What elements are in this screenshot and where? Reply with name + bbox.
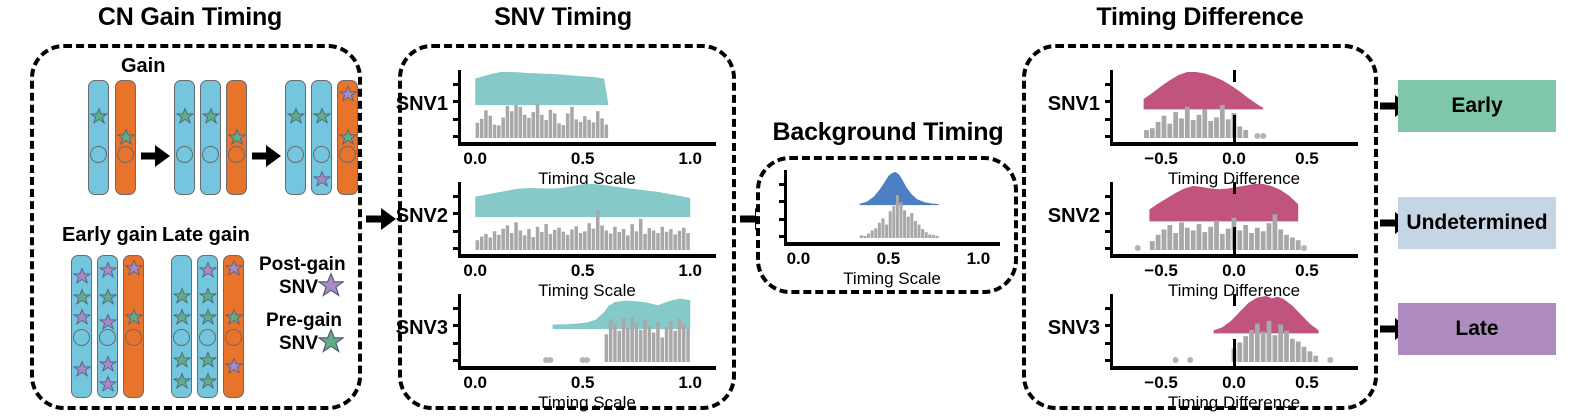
histogram-bar xyxy=(583,116,587,138)
histogram-bar xyxy=(484,110,488,138)
histogram-bar xyxy=(1197,224,1202,250)
snv-row-label: SNV3 xyxy=(1038,317,1100,340)
page-title-cn-gain: CN Gain Timing xyxy=(30,3,350,32)
histogram-bar xyxy=(536,227,540,250)
histogram-bar xyxy=(575,119,579,138)
histogram-bar xyxy=(1278,230,1283,251)
snv-row-label: SNV2 xyxy=(386,205,448,228)
histogram-bar xyxy=(622,229,626,250)
histogram-bar xyxy=(519,230,523,250)
gain-step-arrow-1 xyxy=(141,146,169,166)
histogram-bar xyxy=(635,231,639,250)
histogram-bar xyxy=(562,232,566,250)
x-tick-label: 1.0 xyxy=(678,261,702,281)
x-tick-label: 0.5 xyxy=(571,149,595,169)
x-tick-label: 0.0 xyxy=(1222,261,1246,281)
post-gain-snv-star xyxy=(73,308,91,326)
x-tick-label: 1.0 xyxy=(967,249,991,269)
histogram-bar xyxy=(1226,119,1231,138)
histogram-bar xyxy=(476,123,480,138)
pre-gain-snv-star xyxy=(173,287,191,305)
x-tick-label: 0.0 xyxy=(463,149,487,169)
histogram-bar xyxy=(514,222,518,250)
early-gain-label: Early gain xyxy=(62,224,158,247)
histogram-bar xyxy=(605,230,609,250)
centromere xyxy=(287,146,304,163)
histogram-bar xyxy=(1237,230,1242,250)
histogram-bar xyxy=(613,227,617,250)
x-axis xyxy=(1110,254,1358,258)
histogram-bar xyxy=(918,225,921,238)
histogram-bar xyxy=(1261,231,1266,250)
histogram-bar xyxy=(553,113,557,138)
post-gain-snv-star xyxy=(73,360,91,378)
histogram-bar xyxy=(514,105,518,138)
histogram-bar xyxy=(1214,221,1219,251)
histogram-bar xyxy=(1179,222,1184,250)
chromosome-blue xyxy=(88,80,109,195)
histogram-bar xyxy=(480,119,484,138)
histogram-bar xyxy=(570,230,574,251)
gain-step-arrow-2 xyxy=(252,146,280,166)
histogram-bar xyxy=(686,329,690,362)
histogram-bar xyxy=(1273,335,1278,362)
histogram-bar xyxy=(1185,107,1190,138)
post-gain-snv-star xyxy=(125,259,143,277)
post-gain-legend-line2: SNV xyxy=(279,277,318,299)
histogram-bar xyxy=(1173,233,1178,250)
histogram-bar xyxy=(1296,342,1301,363)
histogram-bar xyxy=(673,331,677,362)
outlier-dot xyxy=(1173,357,1179,363)
x-axis xyxy=(458,366,716,370)
histogram-bar xyxy=(532,237,536,250)
histogram-bar xyxy=(630,317,634,362)
plot-canvas xyxy=(458,294,716,366)
x-tick-label: 0.0 xyxy=(463,373,487,393)
histogram-bar xyxy=(510,111,514,138)
centromere xyxy=(199,329,216,346)
histogram-bar xyxy=(1284,331,1289,362)
density-curve xyxy=(1144,72,1264,109)
snv-row-label: SNV3 xyxy=(386,317,448,340)
histogram-bar xyxy=(1290,238,1295,251)
snv2-difference-plot: −0.50.00.5Timing DifferenceSNV2 xyxy=(1110,182,1358,254)
outlier-dot xyxy=(1135,245,1141,251)
chromosome-blue xyxy=(174,80,195,195)
plot-canvas xyxy=(784,170,1000,242)
density-curve xyxy=(1214,296,1319,333)
histogram-bar xyxy=(1173,112,1178,138)
histogram-bar xyxy=(882,218,885,238)
histogram-bar xyxy=(536,104,540,138)
x-tick-label: 0.5 xyxy=(1295,261,1319,281)
histogram-bar xyxy=(1220,234,1225,250)
post-gain-snv-legend-star xyxy=(318,272,344,298)
pre-gain-snv-star xyxy=(202,107,220,125)
histogram-bar xyxy=(643,320,647,362)
density-curve xyxy=(475,184,690,217)
histogram-bar xyxy=(864,236,867,238)
x-tick-label: 0.0 xyxy=(1222,373,1246,393)
histogram-bar xyxy=(609,319,613,362)
histogram-bar xyxy=(501,229,505,250)
histogram-bar xyxy=(1202,109,1207,138)
histogram-bar xyxy=(557,123,561,138)
pre-gain-snv-star xyxy=(173,351,191,369)
post-gain-snv-star xyxy=(99,375,117,393)
classification-box-late[interactable]: Late xyxy=(1398,303,1556,355)
histogram-bar xyxy=(630,224,634,250)
histogram-bar xyxy=(643,234,647,250)
histogram-bar xyxy=(1278,325,1283,363)
histogram-bar xyxy=(1249,330,1254,362)
plot-canvas xyxy=(458,70,716,142)
histogram-bar xyxy=(1302,347,1307,362)
x-tick-label: 0.0 xyxy=(1222,149,1246,169)
pre-gain-snv-star xyxy=(176,107,194,125)
x-axis xyxy=(458,254,716,258)
histogram-bar xyxy=(532,112,536,138)
x-axis xyxy=(458,142,716,146)
histogram-bar xyxy=(900,202,903,238)
histogram-bar xyxy=(1273,214,1278,250)
histogram-bar xyxy=(1214,118,1219,139)
snv-row-label: SNV1 xyxy=(386,93,448,116)
pre-gain-snv-star xyxy=(313,107,331,125)
x-tick-label: 0.0 xyxy=(787,249,811,269)
outlier-dot xyxy=(547,357,553,363)
classification-box-early[interactable]: Early xyxy=(1398,80,1556,132)
histogram-bar xyxy=(1243,130,1248,138)
histogram-bar xyxy=(910,213,913,238)
histogram-bar xyxy=(903,210,906,238)
centromere xyxy=(339,146,356,163)
x-tick-label: 0.5 xyxy=(877,249,901,269)
histogram-bar xyxy=(874,228,877,238)
histogram-bar xyxy=(613,324,617,362)
histogram-bar xyxy=(618,331,622,362)
post-gain-snv-star xyxy=(99,355,117,373)
pre-gain-snv-star xyxy=(228,128,246,146)
page-title-snv: SNV Timing xyxy=(398,3,728,32)
histogram-bar xyxy=(928,234,931,238)
histogram-bar xyxy=(626,328,630,362)
histogram-bar xyxy=(1237,342,1242,362)
outlier-dot xyxy=(1260,133,1266,139)
pre-gain-snv-star xyxy=(225,308,243,326)
histogram-bar xyxy=(510,233,514,250)
post-gain-snv-star xyxy=(225,357,243,375)
histogram-bar xyxy=(1156,235,1161,250)
x-tick-label: 1.0 xyxy=(678,149,702,169)
plot-canvas xyxy=(458,182,716,254)
x-tick-label: −0.5 xyxy=(1144,149,1178,169)
outlier-dot xyxy=(584,357,590,363)
centromere xyxy=(228,146,245,163)
histogram-bar xyxy=(618,232,622,250)
histogram-bar xyxy=(914,221,917,238)
centromere xyxy=(117,146,134,163)
histogram-bar xyxy=(1243,225,1248,250)
histogram-bar xyxy=(1313,356,1318,362)
histogram-bar xyxy=(648,326,652,362)
pre-gain-snv-star xyxy=(199,372,217,390)
x-tick-label: 0.5 xyxy=(571,261,595,281)
histogram-bar xyxy=(1243,336,1248,362)
histogram-bar xyxy=(885,225,888,238)
density-curve xyxy=(860,172,939,205)
histogram-bar xyxy=(1167,225,1172,250)
histogram-bar xyxy=(476,240,480,250)
centromere xyxy=(173,329,190,346)
histogram-bar xyxy=(549,234,553,250)
x-axis-label: Timing Difference xyxy=(1168,393,1300,413)
histogram-bar xyxy=(639,330,643,362)
histogram-bar xyxy=(553,230,557,250)
histogram-bar xyxy=(544,120,548,138)
centromere xyxy=(73,329,90,346)
histogram-bar xyxy=(493,231,497,250)
x-tick-label: 0.0 xyxy=(463,261,487,281)
pre-gain-snv-star xyxy=(199,287,217,305)
histogram-bar xyxy=(1162,116,1167,138)
histogram-bar xyxy=(860,235,863,238)
histogram-bar xyxy=(673,234,677,250)
pre-gain-snv-star xyxy=(99,288,117,306)
pre-gain-legend-line2: SNV xyxy=(279,333,318,355)
histogram-bar xyxy=(656,233,660,250)
histogram-bar xyxy=(1255,228,1260,250)
histogram-bar xyxy=(527,118,531,138)
histogram-bar xyxy=(669,229,673,250)
histogram-bar xyxy=(523,115,527,138)
histogram-bar xyxy=(639,219,643,250)
histogram-bar xyxy=(665,232,669,250)
histogram-bar xyxy=(493,125,497,138)
snv1-difference-plot: −0.50.00.5Timing DifferenceSNV1 xyxy=(1110,70,1358,142)
post-gain-snv-star xyxy=(339,85,357,103)
pre-gain-snv-star xyxy=(90,107,108,125)
histogram-bar xyxy=(605,125,609,138)
histogram-bar xyxy=(652,230,656,250)
histogram-bar xyxy=(1156,122,1161,138)
histogram-bar xyxy=(544,224,548,250)
classification-box-undetermined[interactable]: Undetermined xyxy=(1398,197,1556,249)
zero-reference-marker xyxy=(1233,339,1236,366)
histogram-bar xyxy=(566,235,570,250)
histogram-bar xyxy=(1290,339,1295,362)
snv3-timing-plot: 0.00.51.0Timing ScaleSNV3 xyxy=(458,294,716,366)
pre-gain-snv-star xyxy=(287,107,305,125)
histogram-bar xyxy=(678,231,682,250)
post-gain-snv-star xyxy=(225,259,243,277)
histogram-bar xyxy=(1185,228,1190,250)
centromere xyxy=(225,329,242,346)
histogram-bar xyxy=(925,232,928,238)
histogram-bar xyxy=(907,217,910,238)
histogram-bar xyxy=(652,333,656,363)
histogram-bar xyxy=(527,229,531,250)
histogram-bar xyxy=(1202,232,1207,250)
x-axis xyxy=(1110,366,1358,370)
chromosome-blue xyxy=(285,80,306,195)
histogram-bar xyxy=(579,122,583,138)
histogram-bar xyxy=(686,233,690,250)
late-gain-label: Late gain xyxy=(162,224,250,247)
histogram-bar xyxy=(936,236,939,238)
x-tick-label: −0.5 xyxy=(1144,373,1178,393)
zero-reference-marker xyxy=(1233,70,1236,82)
histogram-bar xyxy=(549,110,553,138)
x-axis xyxy=(784,242,1000,246)
histogram-bar xyxy=(682,325,686,363)
histogram-bar xyxy=(506,106,510,138)
histogram-bar xyxy=(600,225,604,250)
histogram-bar xyxy=(1162,230,1167,251)
density-curve xyxy=(475,72,608,105)
snv1-timing-plot: 0.00.51.0Timing ScaleSNV1 xyxy=(458,70,716,142)
histogram-bar xyxy=(587,223,591,250)
histogram-bar xyxy=(1191,230,1196,250)
histogram-bar xyxy=(661,337,665,362)
histogram-bar xyxy=(678,318,682,362)
histogram-bar xyxy=(682,228,686,250)
histogram-bar xyxy=(596,111,600,138)
histogram-bar xyxy=(557,228,561,250)
x-tick-label: 0.5 xyxy=(571,373,595,393)
pre-gain-snv-star xyxy=(173,308,191,326)
histogram-bar xyxy=(609,234,613,251)
histogram-bar xyxy=(665,327,669,362)
histogram-bar xyxy=(1296,240,1301,250)
histogram-bar xyxy=(1308,351,1313,362)
histogram-bar xyxy=(1237,126,1242,138)
histogram-bar xyxy=(1249,233,1254,250)
zero-reference-marker xyxy=(1233,182,1236,194)
pre-gain-snv-star xyxy=(199,308,217,326)
histogram-bar xyxy=(484,234,488,250)
histogram-bar xyxy=(575,226,579,250)
page-title-background: Background Timing xyxy=(755,118,1021,147)
outlier-dot xyxy=(1254,133,1260,139)
histogram-bar xyxy=(600,118,604,138)
x-tick-label: 1.0 xyxy=(678,373,702,393)
histogram-bar xyxy=(587,120,591,138)
histogram-bar xyxy=(1226,229,1231,250)
x-axis-label: Timing Scale xyxy=(843,269,941,289)
background-timing-plot: 0.00.51.0Timing Scale xyxy=(784,170,1000,242)
histogram-bar xyxy=(519,107,523,138)
zero-reference-marker xyxy=(1233,227,1236,254)
histogram-bar xyxy=(579,233,583,250)
histogram-bar xyxy=(497,126,501,139)
centromere xyxy=(99,329,116,346)
histogram-bar xyxy=(921,229,924,238)
post-gain-snv-star xyxy=(73,267,91,285)
snv-row-label: SNV1 xyxy=(1038,93,1100,116)
pre-gain-snv-star xyxy=(117,128,135,146)
histogram-bar xyxy=(1197,115,1202,138)
histogram-bar xyxy=(635,323,639,362)
outlier-dot xyxy=(1327,357,1333,363)
histogram-bar xyxy=(540,115,544,138)
zero-reference-marker xyxy=(1233,294,1236,306)
histogram-bar xyxy=(562,125,566,138)
x-axis xyxy=(1110,142,1358,146)
histogram-bar xyxy=(622,318,626,362)
histogram-bar xyxy=(506,225,510,250)
histogram-bar xyxy=(605,334,609,362)
x-tick-label: −0.5 xyxy=(1144,261,1178,281)
snv2-timing-plot: 0.00.51.0Timing ScaleSNV2 xyxy=(458,182,716,254)
pre-gain-snv-star xyxy=(199,351,217,369)
histogram-bar xyxy=(1267,223,1272,250)
histogram-bar xyxy=(523,235,527,250)
pre-gain-snv-legend-star xyxy=(318,328,344,354)
histogram-bar xyxy=(1261,332,1266,362)
histogram-bar xyxy=(648,228,652,250)
post-gain-snv-star xyxy=(99,313,117,331)
histogram-bar xyxy=(661,227,665,250)
chromosome-blue xyxy=(200,80,221,195)
histogram-bar xyxy=(892,206,895,238)
pre-gain-snv-star xyxy=(339,128,357,146)
histogram-bar xyxy=(889,211,892,238)
histogram-bar xyxy=(566,113,570,138)
centromere xyxy=(90,146,107,163)
histogram-bar xyxy=(583,231,587,250)
histogram-bar xyxy=(1167,124,1172,138)
histogram-bar xyxy=(1208,227,1213,250)
histogram-bar xyxy=(596,211,600,250)
post-gain-snv-star xyxy=(199,261,217,279)
x-tick-label: 0.5 xyxy=(1295,149,1319,169)
histogram-bar xyxy=(592,122,596,138)
histogram-bar xyxy=(489,238,493,251)
pre-gain-snv-star xyxy=(73,288,91,306)
histogram-bar xyxy=(656,322,660,362)
histogram-bar xyxy=(1220,105,1225,138)
histogram-bar xyxy=(878,223,881,238)
histogram-bar xyxy=(1255,324,1260,362)
histogram-bar xyxy=(480,237,484,250)
histogram-bar xyxy=(896,195,899,238)
centromere xyxy=(125,329,142,346)
zero-reference-marker xyxy=(1233,115,1236,142)
centromere xyxy=(313,146,330,163)
histogram-bar xyxy=(867,234,870,239)
histogram-bar xyxy=(497,235,501,250)
histogram-bar xyxy=(1284,235,1289,250)
snv-row-label: SNV2 xyxy=(1038,205,1100,228)
centromere xyxy=(176,146,193,163)
histogram-bar xyxy=(1144,130,1149,138)
histogram-bar xyxy=(871,230,874,238)
histogram-bar xyxy=(1150,241,1155,250)
histogram-bar xyxy=(570,107,574,138)
histogram-bar xyxy=(669,321,673,362)
outlier-dot xyxy=(1301,245,1307,251)
outlier-dot xyxy=(1187,357,1193,363)
centromere xyxy=(202,146,219,163)
histogram-bar xyxy=(626,235,630,250)
histogram-bar xyxy=(1150,128,1155,138)
histogram-bar xyxy=(932,235,935,238)
page-title-difference: Timing Difference xyxy=(1022,3,1378,32)
histogram-bar xyxy=(592,229,596,250)
histogram-bar xyxy=(1191,120,1196,138)
